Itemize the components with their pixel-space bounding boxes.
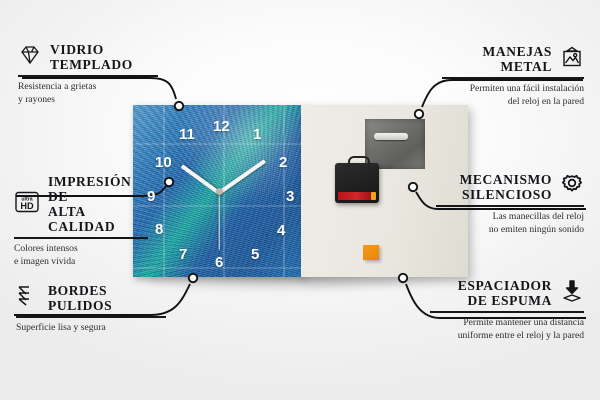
diamond-icon	[18, 44, 42, 71]
callout-title-line2: SILENCIOSO	[460, 187, 552, 202]
callout-manejas-metal[interactable]: MANEJAS METAL Permiten una fácil instala…	[442, 44, 584, 108]
callout-sub-line2: del reloj en la pared	[442, 96, 584, 109]
clock-numeral-1: 1	[253, 127, 261, 142]
clock-numeral-5: 5	[251, 247, 259, 262]
callout-rule	[14, 237, 148, 238]
callout-title-line2: DE ESPUMA	[458, 293, 552, 308]
callout-title-line2: ALTA CALIDAD	[48, 204, 148, 234]
callout-impresion-alta-calidad[interactable]: ultra HD IMPRESIÓN DE ALTA CALIDAD Color…	[14, 174, 148, 269]
connector-node-espaciador	[399, 274, 407, 282]
clock-numeral-2: 2	[279, 155, 287, 170]
clock-numeral-9: 9	[147, 189, 155, 204]
callout-vidrio-templado[interactable]: VIDRIO TEMPLADO Resistencia a grietas y …	[18, 42, 158, 106]
callout-sub-line1: Permiten una fácil instalación	[442, 83, 584, 96]
clock-numeral-3: 3	[286, 189, 294, 204]
connector-node-mecanismo	[409, 183, 417, 191]
callout-title-line1: VIDRIO	[50, 42, 133, 57]
clock-second-hand	[218, 192, 219, 250]
callout-sub-line1: Superficie lisa y segura	[16, 322, 166, 335]
wall-hanging-icon	[560, 46, 584, 73]
callout-sub-line2: no emiten ningún sonido	[436, 224, 584, 237]
callout-sub-line1: Permite mantener una distancia	[430, 317, 584, 330]
callout-espaciador-espuma[interactable]: ESPACIADOR DE ESPUMA Permite mantener un…	[430, 278, 584, 342]
foam-spacer-icon	[560, 279, 584, 308]
callout-rule	[442, 77, 584, 78]
clock-center-cap	[216, 188, 223, 195]
callout-title-line1: ESPACIADOR	[458, 278, 552, 293]
callout-rule	[436, 205, 584, 206]
ultra-hd-large-text: HD	[20, 201, 34, 211]
clock-numeral-8: 8	[155, 222, 163, 237]
callout-sub-line2: uniforme entre el reloj y la pared	[430, 330, 584, 343]
connector-node-vidrio	[175, 102, 183, 110]
callout-title-line1: MECANISMO	[460, 172, 552, 187]
callout-rule	[430, 311, 584, 312]
callout-title-line1: IMPRESIÓN DE	[48, 174, 148, 204]
callout-title-line2: PULIDOS	[48, 298, 112, 313]
callout-mecanismo-silencioso[interactable]: MECANISMO SILENCIOSO Las manecillas del …	[436, 172, 584, 236]
polished-edges-icon	[16, 285, 40, 312]
clock-numeral-7: 7	[179, 247, 187, 262]
callout-sub-line1: Las manecillas del reloj	[436, 211, 584, 224]
clock-numeral-11: 11	[179, 127, 195, 142]
callout-rule	[16, 316, 166, 317]
connector-node-manejas	[415, 110, 423, 118]
connector-node-impresion	[165, 178, 173, 186]
callout-sub-line2: e imagen vívida	[14, 256, 148, 269]
callout-sub-line2: y rayones	[18, 94, 158, 107]
callout-rule	[18, 75, 158, 76]
connector-node-bordes	[189, 274, 197, 282]
clock-numeral-12: 12	[213, 119, 230, 134]
clock-numeral-6: 6	[215, 255, 223, 270]
clock-numeral-4: 4	[277, 223, 285, 238]
infographic-canvas: 12 1 2 3 4 5 6 7 8 9 10 11	[0, 0, 600, 400]
ultra-hd-icon: ultra HD	[14, 190, 40, 219]
callout-sub-line1: Colores intensos	[14, 243, 148, 256]
callout-bordes-pulidos[interactable]: BORDES PULIDOS Superficie lisa y segura	[16, 283, 166, 335]
callout-sub-line1: Resistencia a grietas	[18, 81, 158, 94]
callout-title-line2: TEMPLADO	[50, 57, 133, 72]
gear-icon	[560, 173, 584, 202]
clock-numeral-10: 10	[155, 155, 172, 170]
callout-title-line1: MANEJAS	[483, 44, 552, 59]
callout-title-line2: METAL	[483, 59, 552, 74]
callout-title-line1: BORDES	[48, 283, 112, 298]
